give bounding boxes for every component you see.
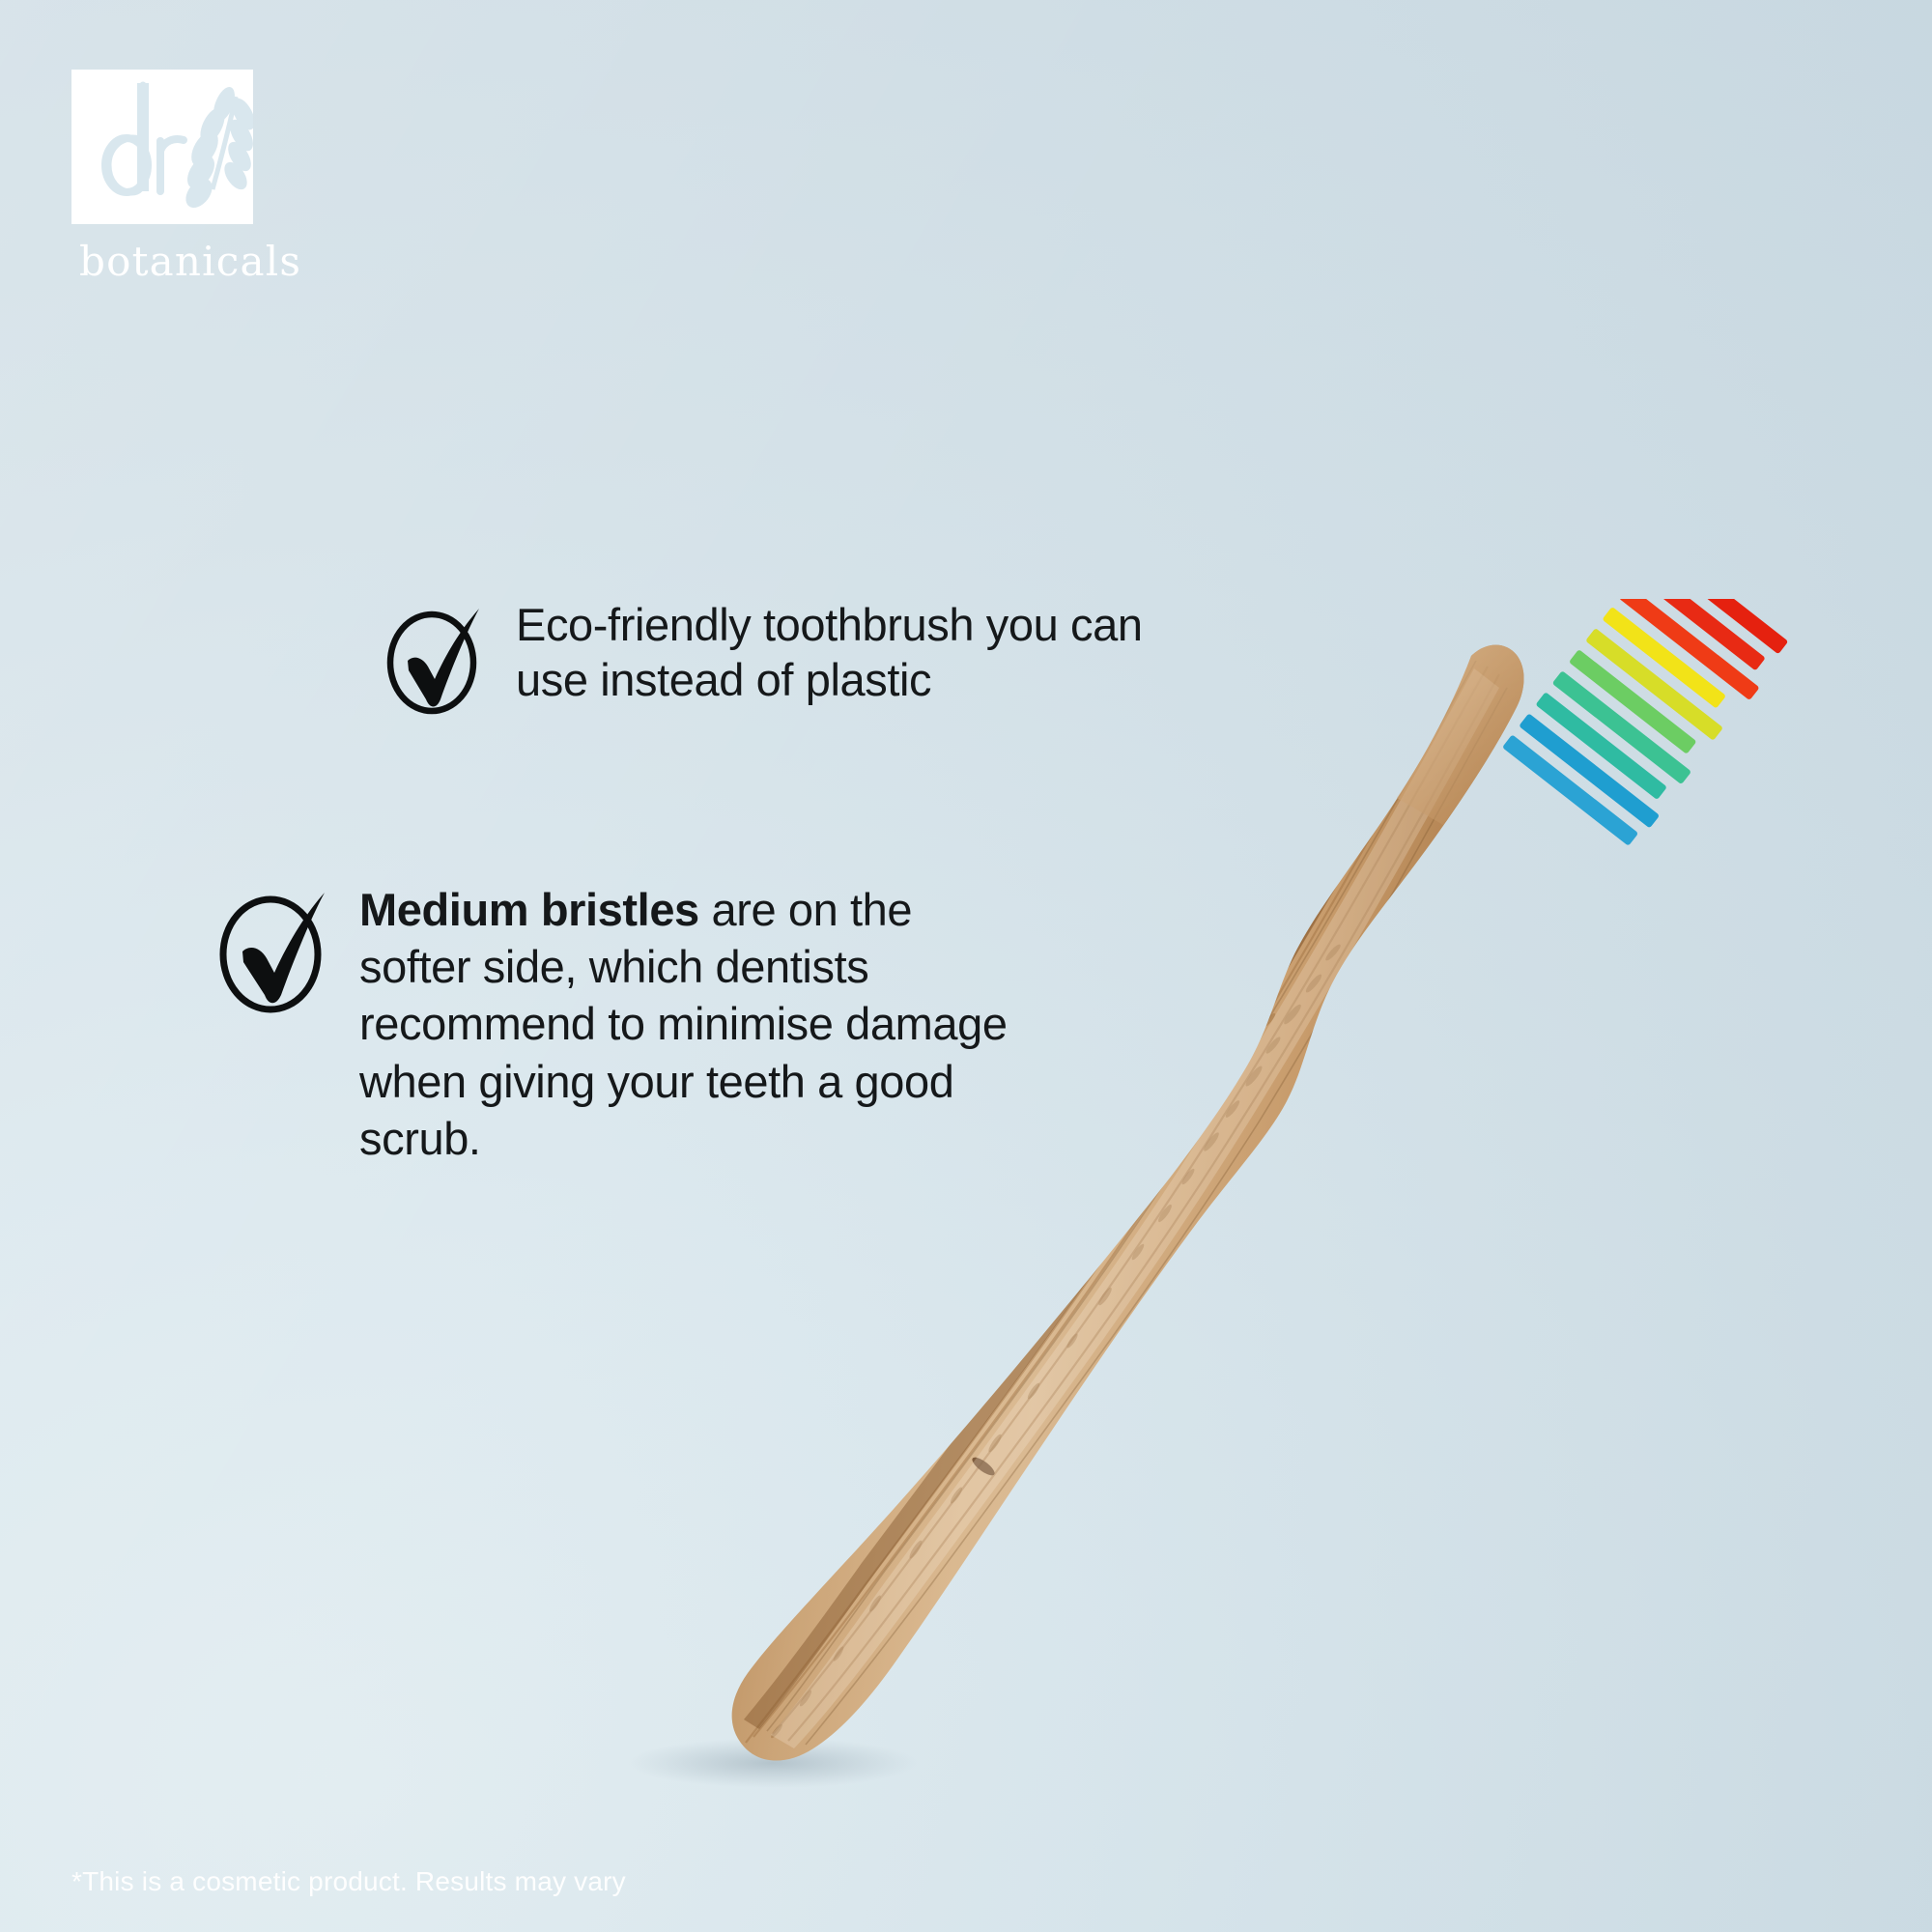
logo-dr-leaf-icon xyxy=(71,70,253,224)
feature-item-2: Medium bristles are on the softer side, … xyxy=(211,881,1016,1167)
hand-drawn-check-circle-icon xyxy=(379,599,491,719)
toothbrush-body xyxy=(686,628,1555,1787)
product-image-bamboo-toothbrush xyxy=(415,599,1932,1758)
feature-text-2: Medium bristles are on the softer side, … xyxy=(359,881,1016,1167)
bristle-group xyxy=(1502,599,1793,850)
logo-mark-box xyxy=(71,70,253,224)
hand-drawn-check-circle-icon xyxy=(211,881,338,1018)
feature-text-1: Eco-friendly toothbrush you can use inst… xyxy=(516,597,1192,708)
brush-head xyxy=(1397,645,1524,825)
brand-logo[interactable]: botanicals xyxy=(71,70,332,282)
product-feature-card: botanicals xyxy=(0,0,1932,1932)
disclaimer-text: *This is a cosmetic product. Results may… xyxy=(71,1866,626,1897)
logo-wordmark: botanicals xyxy=(79,241,332,282)
toothbrush-illustration xyxy=(415,599,1932,1816)
feature-item-1: Eco-friendly toothbrush you can use inst… xyxy=(379,597,1192,719)
